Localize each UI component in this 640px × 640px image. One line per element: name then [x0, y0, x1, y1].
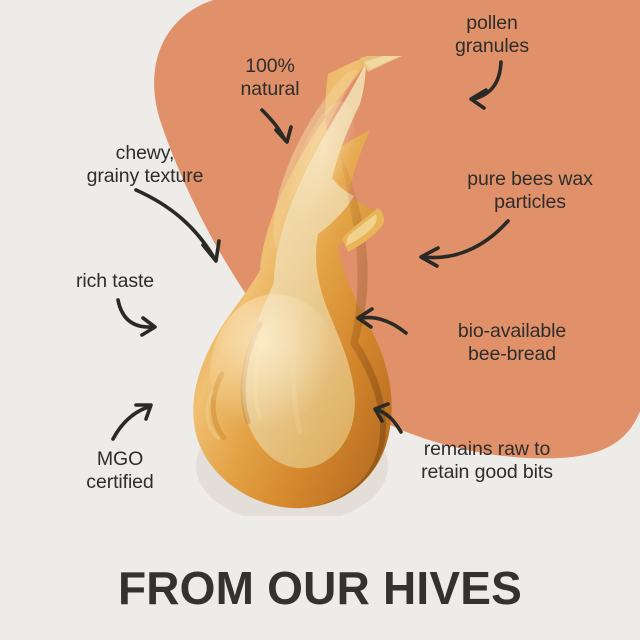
callout-pure-bees-wax-particles: pure bees wax particles — [424, 168, 636, 213]
arrow-mgo-icon — [113, 405, 151, 439]
arrow-chewy-icon — [136, 190, 219, 261]
arrow-pollen-icon — [471, 62, 501, 108]
arrow-natural-icon — [262, 110, 291, 142]
product-infographic-poster: .arw { fill:none; stroke:#2B2926; stroke… — [0, 0, 640, 640]
arrow-raw-icon — [375, 404, 401, 432]
arrow-rich-icon — [118, 300, 155, 335]
headline: FROM OUR HIVES TO YOUR HOME — [0, 518, 640, 640]
callout-chewy-grainy-texture: chewy, grainy texture — [40, 142, 250, 187]
arrow-bio-icon — [358, 309, 406, 333]
callout-remains-raw: remains raw to retain good bits — [382, 438, 592, 483]
headline-line-1: FROM OUR HIVES — [0, 565, 640, 612]
callout-rich-taste: rich taste — [40, 270, 190, 293]
callout-pollen-granules: pollen granules — [402, 12, 582, 57]
callout-bio-available-bee-bread: bio-available bee-bread — [412, 320, 612, 365]
callout-100-natural: 100% natural — [180, 55, 360, 100]
callout-mgo-certified: MGO certified — [50, 448, 190, 493]
arrow-beeswax-icon — [421, 221, 508, 266]
